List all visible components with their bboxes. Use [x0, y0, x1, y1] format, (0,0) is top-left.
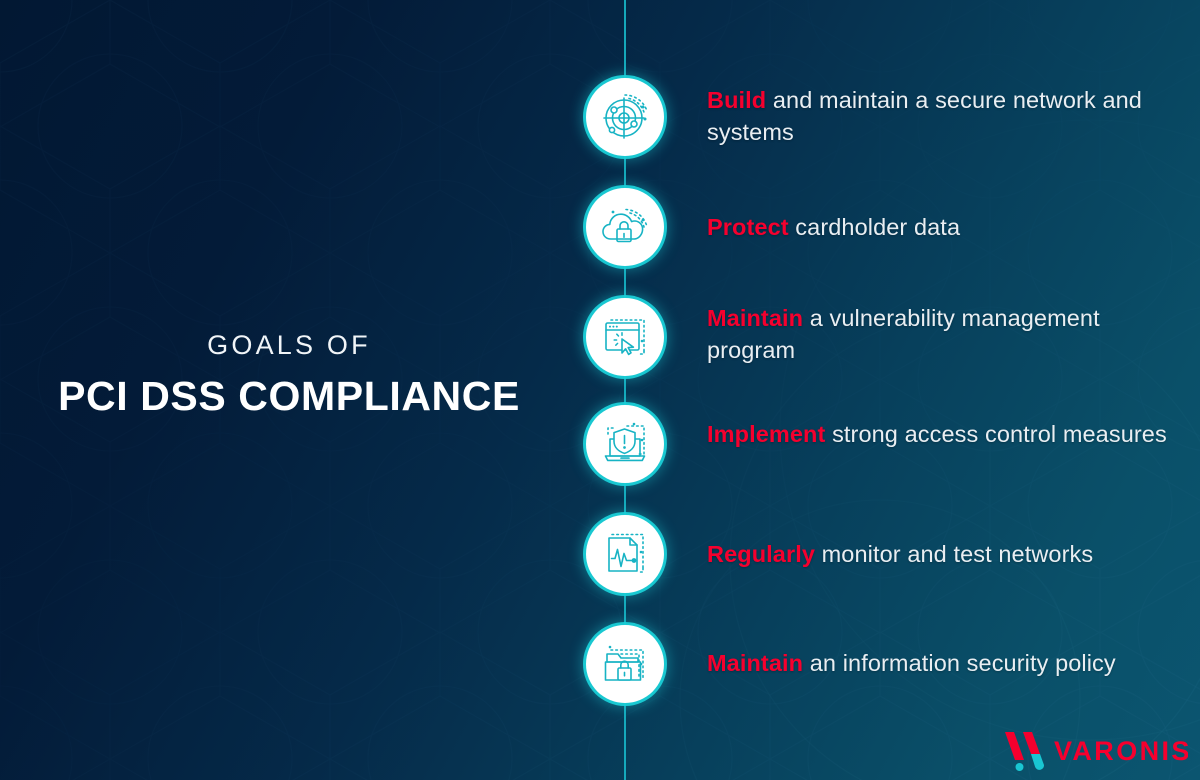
- list-item-keyword: Maintain: [707, 305, 803, 331]
- list-item-keyword: Maintain: [707, 650, 803, 676]
- list-item-keyword: Regularly: [707, 541, 815, 567]
- list-item-rest: and maintain a secure network and system…: [707, 87, 1142, 145]
- timeline-bullet[interactable]: [586, 405, 664, 483]
- list-item-rest: cardholder data: [789, 214, 960, 240]
- list-item-text: Protect cardholder data: [707, 211, 1187, 243]
- radar-network-icon: [599, 91, 651, 143]
- list-item-rest: monitor and test networks: [815, 541, 1093, 567]
- timeline-bullet[interactable]: [586, 625, 664, 703]
- list-item-keyword: Protect: [707, 214, 789, 240]
- browser-cursor-icon: [599, 311, 651, 363]
- document-pulse-icon: [599, 528, 651, 580]
- cloud-lock-icon: [599, 201, 651, 253]
- infographic-canvas: GOALS OF PCI DSS COMPLIANCE: [0, 0, 1200, 780]
- timeline-list: Build and maintain a secure network and …: [0, 0, 1200, 780]
- list-item-text: Maintain a vulnerability management prog…: [707, 302, 1187, 367]
- list-item-text: Implement strong access control measures: [707, 418, 1187, 450]
- list-item-text: Build and maintain a secure network and …: [707, 84, 1187, 149]
- timeline-bullet[interactable]: [586, 78, 664, 156]
- laptop-shield-alert-icon: [599, 418, 651, 470]
- list-item-rest: an information security policy: [803, 650, 1116, 676]
- timeline-bullet[interactable]: [586, 515, 664, 593]
- list-item-keyword: Implement: [707, 421, 825, 447]
- timeline-bullet[interactable]: [586, 298, 664, 376]
- timeline-bullet[interactable]: [586, 188, 664, 266]
- list-item-rest: strong access control measures: [825, 421, 1166, 447]
- folder-lock-icon: [599, 638, 651, 690]
- list-item-text: Maintain an information security policy: [707, 647, 1187, 679]
- list-item-text: Regularly monitor and test networks: [707, 538, 1187, 570]
- list-item-keyword: Build: [707, 87, 766, 113]
- varonis-logo[interactable]: VARONIS: [998, 728, 1188, 772]
- varonis-slashes-icon: [1005, 732, 1044, 771]
- varonis-wordmark: VARONIS: [1054, 736, 1188, 766]
